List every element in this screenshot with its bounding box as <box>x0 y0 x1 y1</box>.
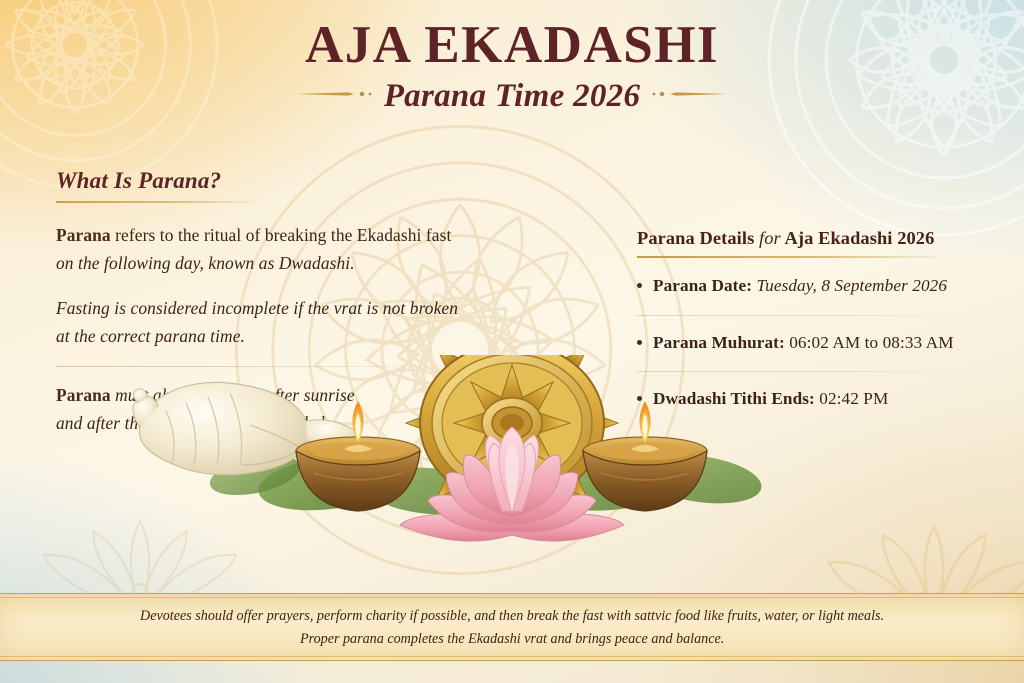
subtitle-row: Parana Time 2026 <box>0 78 1024 115</box>
page-subtitle: Parana Time 2026 <box>384 78 641 115</box>
footer-line-1: Devotees should offer prayers, perform c… <box>140 604 884 627</box>
paragraph-lead-word: Parana <box>56 225 111 245</box>
poster-canvas: AJA EKADASHI Parana Time 2026 What Is Pa <box>0 0 1024 683</box>
details-heading-part1: Parana Details <box>637 228 759 248</box>
what-is-parana-section: What Is Parana? Parana refers to the rit… <box>56 168 486 438</box>
paragraph-line-2: at the correct parana time. <box>56 326 245 346</box>
paragraph-lead-word: Parana <box>56 385 111 405</box>
detail-label: Parana Muhurat: <box>653 333 785 352</box>
detail-label: Dwadashi Tithi Ends: <box>653 389 815 408</box>
detail-item-dwadashi-tithi-ends: Dwadashi Tithi Ends: 02:42 PM <box>637 387 977 412</box>
detail-value: 02:42 PM <box>815 389 889 408</box>
section-heading-rule <box>56 201 264 203</box>
ornament-left-icon <box>296 87 374 106</box>
details-divider <box>637 371 967 372</box>
paragraph-line-1: refers to the ritual of breaking the Eka… <box>111 225 452 245</box>
paragraph-line-2: and after the Ekadashi tithi has ended. <box>56 413 329 433</box>
detail-item-parana-date: Parana Date: Tuesday, 8 September 2026 <box>637 274 977 299</box>
paragraph-incomplete-fast: Fasting is considered incomplete if the … <box>56 295 486 351</box>
page-title: AJA EKADASHI <box>0 18 1024 73</box>
footer-line-2: Proper parana completes the Ekadashi vra… <box>300 627 724 650</box>
paragraph-definition: Parana refers to the ritual of breaking … <box>56 222 486 278</box>
paragraph-line-1: must always be done after sunrise <box>111 385 355 405</box>
detail-value: Tuesday, 8 September 2026 <box>752 276 947 295</box>
details-heading-rule <box>637 256 935 258</box>
paragraph-line-1: Fasting is considered incomplete if the … <box>56 298 458 318</box>
footer-rule-bottom <box>0 656 1024 657</box>
oil-lamp-diya-right-icon <box>583 401 707 511</box>
paragraph-line-2: on the following day, known as Dwadashi. <box>56 253 355 273</box>
details-heading-part2: Aja Ekadashi 2026 <box>781 228 935 248</box>
details-heading-for: for <box>759 228 781 248</box>
details-divider <box>637 315 967 316</box>
section-heading: What Is Parana? <box>56 168 486 194</box>
paragraph-after-sunrise: Parana must always be done after sunrise… <box>56 382 486 438</box>
left-divider <box>56 366 476 367</box>
lotus-leaves <box>206 448 764 520</box>
detail-value: 06:02 AM to 08:33 AM <box>785 333 954 352</box>
ornament-right-icon <box>650 87 728 106</box>
detail-item-parana-muhurat: Parana Muhurat: 06:02 AM to 08:33 AM <box>637 331 977 356</box>
pink-lotus-icon <box>400 427 624 541</box>
footer-rule-top <box>0 597 1024 598</box>
details-heading: Parana Details for Aja Ekadashi 2026 <box>637 228 977 249</box>
poster-header: AJA EKADASHI Parana Time 2026 <box>0 18 1024 115</box>
parana-details-section: Parana Details for Aja Ekadashi 2026 Par… <box>637 228 977 412</box>
detail-label: Parana Date: <box>653 276 752 295</box>
footer-band: Devotees should offer prayers, perform c… <box>0 593 1024 661</box>
